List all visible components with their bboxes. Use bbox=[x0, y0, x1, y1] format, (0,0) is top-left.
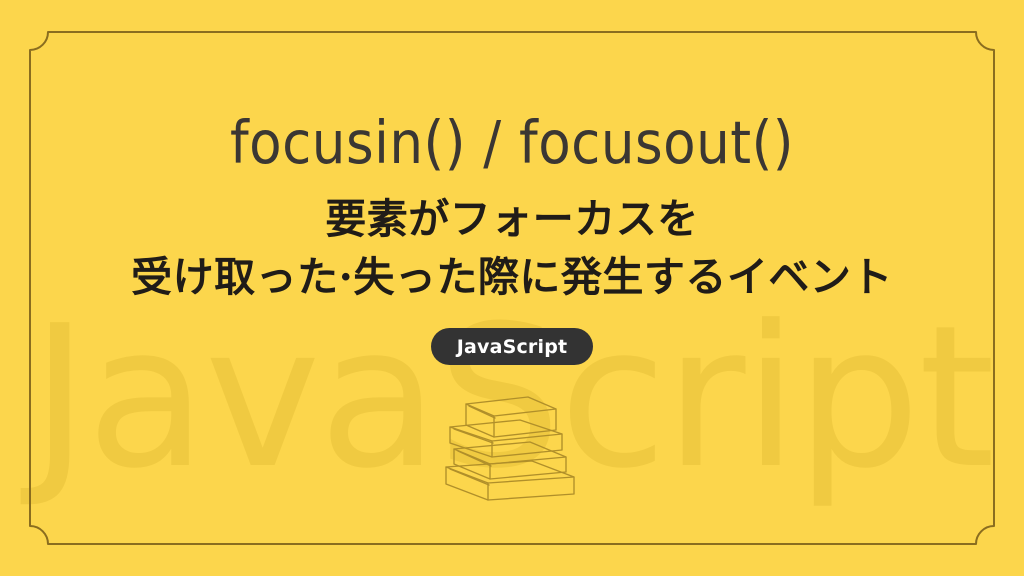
subtitle-line-1: 要素がフォーカスを bbox=[131, 190, 893, 248]
card-content: focusin() / focusout() 要素がフォーカスを 受け取った·失… bbox=[0, 0, 1024, 576]
stacked-books-icon bbox=[432, 387, 592, 505]
subtitle-line-2: 受け取った·失った際に発生するイベント bbox=[131, 248, 893, 306]
category-badge: JavaScript bbox=[431, 328, 594, 365]
eyecatch-card: JavaScript focusin() / focusout() 要素がフォー… bbox=[0, 0, 1024, 576]
subtitle: 要素がフォーカスを 受け取った·失った際に発生するイベント bbox=[131, 190, 893, 306]
page-title: focusin() / focusout() bbox=[230, 112, 794, 174]
